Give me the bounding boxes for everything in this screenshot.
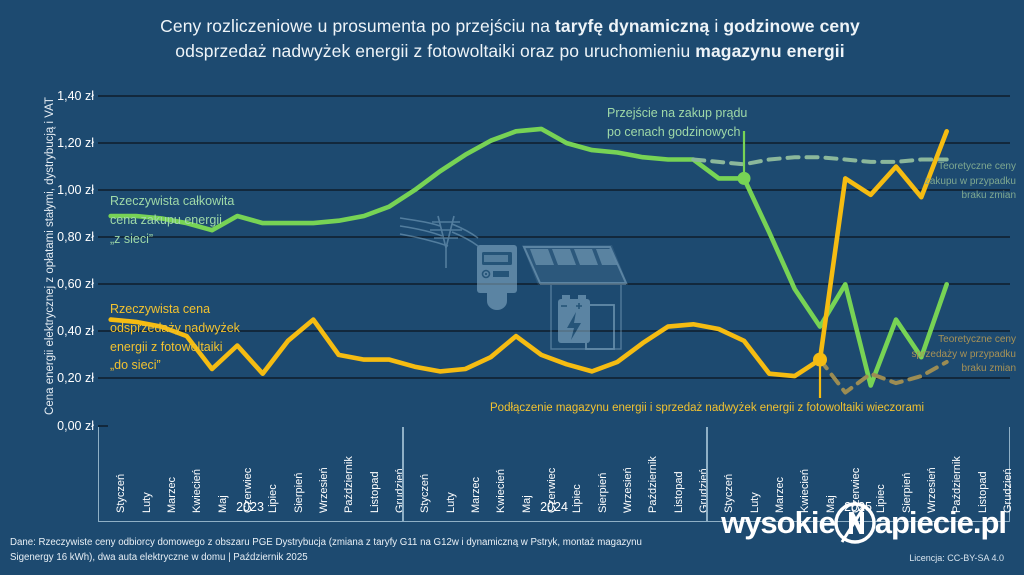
- title-line2-a: odsprzedaż nadwyżek energii z fotowoltai…: [175, 41, 695, 61]
- annotation-hourly-switch: Przejście na zakup prądu po cenach godzi…: [607, 104, 747, 142]
- annotation-buy-label: Rzeczywista całkowita cena zakupu energi…: [110, 192, 234, 248]
- house-solar-icon: [522, 245, 628, 349]
- y-tick-label: 1,00 zł: [22, 183, 94, 197]
- title-line-2: odsprzedaż nadwyżek energii z fotowoltai…: [60, 39, 960, 64]
- year-separator: [402, 427, 404, 522]
- y-tick-label: 0,40 zł: [22, 324, 94, 338]
- y-tick-mark: [98, 283, 108, 285]
- transmission-tower-icon: [400, 216, 478, 268]
- footer-source: Dane: Rzeczywiste ceny odbiorcy domowego…: [10, 535, 650, 565]
- year-separator: [706, 427, 708, 522]
- y-tick-label: 1,40 zł: [22, 89, 94, 103]
- y-tick-label: 0,60 zł: [22, 277, 94, 291]
- title-line1-a: Ceny rozliczeniowe u prosumenta po przej…: [160, 16, 555, 36]
- y-tick-label: 1,20 zł: [22, 136, 94, 150]
- y-tick-mark: [98, 236, 108, 238]
- energy-meter-icon: [477, 245, 517, 310]
- title-line1-c: i: [709, 16, 723, 36]
- gridline: [98, 95, 1010, 97]
- x-axis-year-label: 2023: [236, 500, 264, 514]
- gridline: [98, 189, 1010, 191]
- marker-point-sell: [813, 353, 827, 367]
- site-logo[interactable]: wysokie apiecie.pl: [721, 501, 1006, 545]
- marker-point-buy: [738, 172, 751, 185]
- title-line1-b: taryfę dynamiczną: [555, 16, 709, 36]
- annotation-battery: Podłączenie magazynu energii i sprzedaż …: [490, 400, 924, 417]
- y-tick-mark: [98, 142, 108, 144]
- title-line2-b: magazynu energii: [695, 41, 844, 61]
- title-line1-d: godzinowe ceny: [723, 16, 860, 36]
- chart-root: Ceny rozliczeniowe u prosumenta po przej…: [0, 0, 1024, 575]
- gridline: [98, 377, 1010, 379]
- annotation-theoretical-buy: Teoretyczne ceny zakupu w przypadku brak…: [888, 160, 1016, 204]
- title-line-1: Ceny rozliczeniowe u prosumenta po przej…: [60, 14, 960, 39]
- y-tick-label: 0,00 zł: [22, 419, 94, 433]
- gridline: [98, 236, 1010, 238]
- logo-text-part1: wysokie: [721, 505, 835, 541]
- logo-text-part2: apiecie.pl: [875, 505, 1006, 541]
- gridline: [98, 142, 1010, 144]
- y-tick-mark: [98, 330, 108, 332]
- y-tick-label: 0,80 zł: [22, 230, 94, 244]
- gridline: [98, 283, 1010, 285]
- y-tick-label: 0,20 zł: [22, 371, 94, 385]
- y-tick-mark: [98, 189, 108, 191]
- annotation-theoretical-sell: Teoretyczne ceny sprzedaży w przypadku b…: [888, 333, 1016, 377]
- x-axis-year-label: 2024: [540, 500, 568, 514]
- y-tick-mark: [98, 95, 108, 97]
- annotation-sell-label: Rzeczywista cena odsprzedaży nadwyżek en…: [110, 300, 240, 375]
- license-text: Licencja: CC-BY-SA 4.0: [909, 553, 1004, 563]
- battery-storage-icon: [558, 295, 590, 343]
- logo-bolt-icon: [833, 501, 877, 545]
- y-tick-mark: [98, 377, 108, 379]
- page-title: Ceny rozliczeniowe u prosumenta po przej…: [60, 14, 960, 65]
